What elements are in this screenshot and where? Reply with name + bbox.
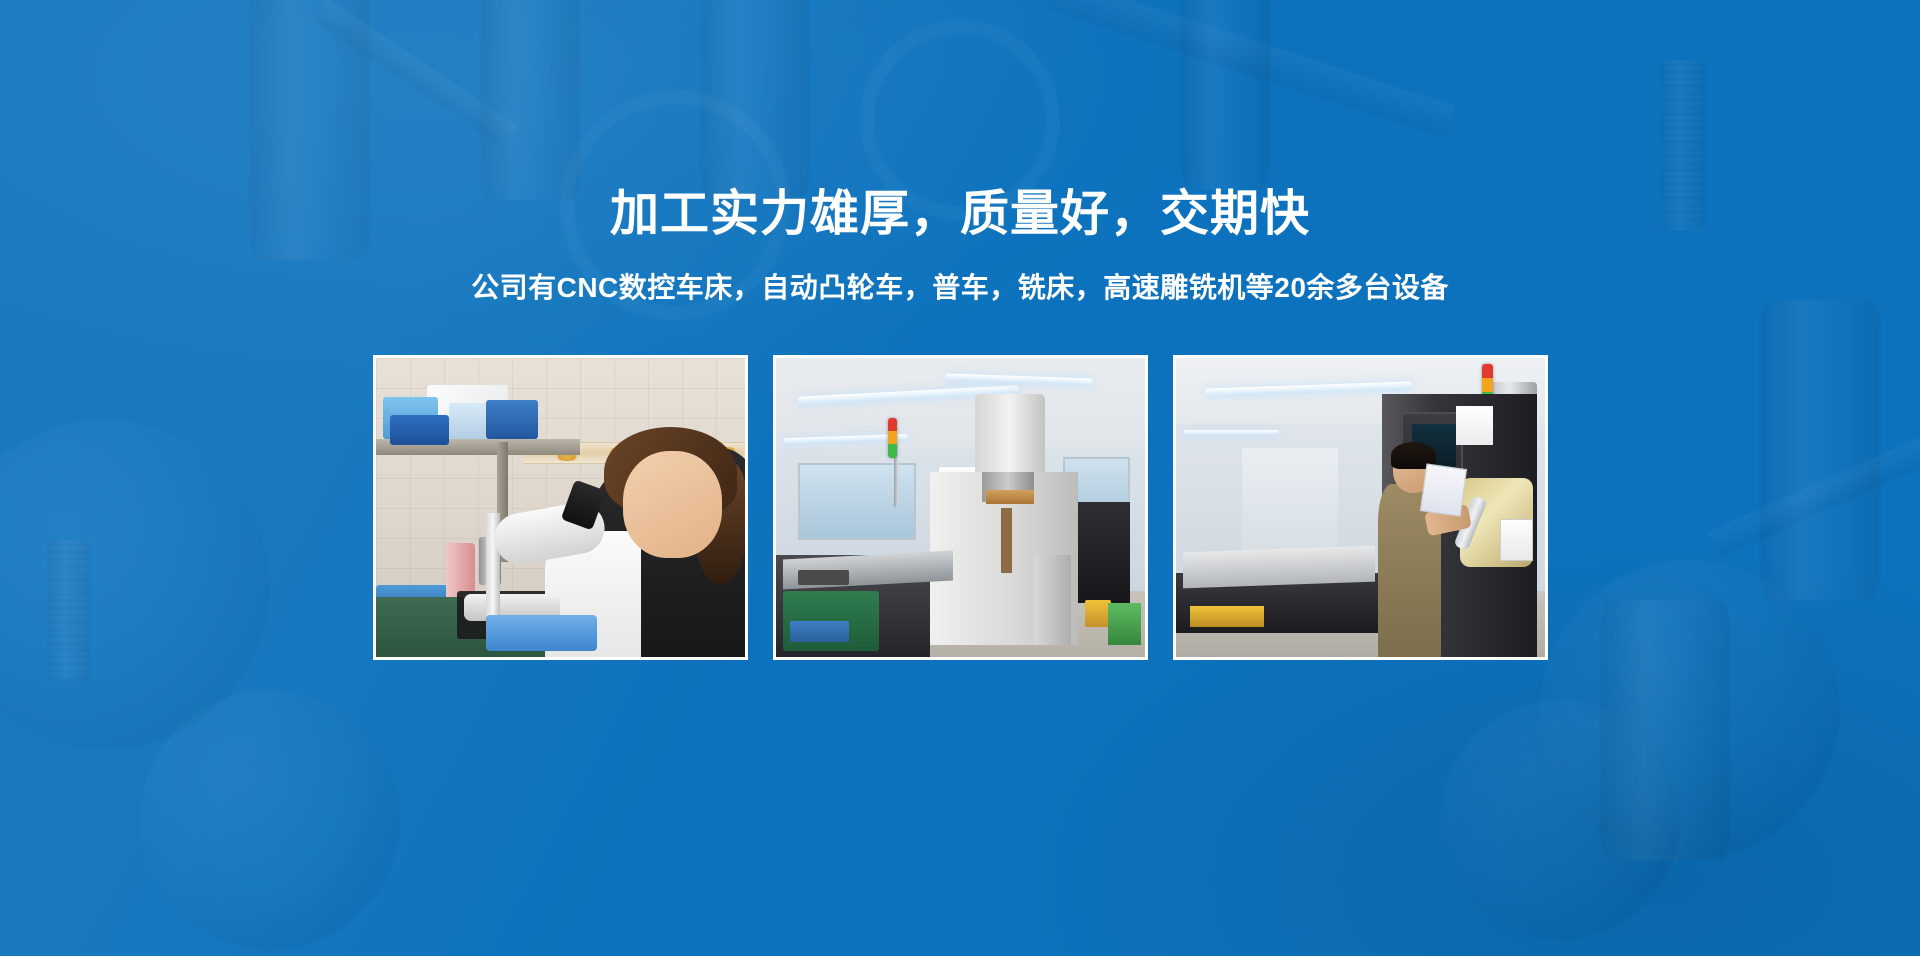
promo-banner: 加工实力雄厚，质量好，交期快 公司有CNC数控车床，自动凸轮车，普车，铣床，高速… <box>0 0 1920 956</box>
photo-gallery <box>0 355 1920 660</box>
watermark-disc-4 <box>140 690 400 950</box>
photo-quality-inspection-microscope <box>373 355 748 660</box>
watermark-disc-3 <box>1440 700 1680 940</box>
signal-tower-light <box>888 418 897 458</box>
banner-headline: 加工实力雄厚，质量好，交期快 <box>0 186 1920 244</box>
photo-operator-at-cnc-lathe <box>1173 355 1548 660</box>
photo-cnc-machine-workshop <box>773 355 1148 660</box>
banner-subheadline: 公司有CNC数控车床，自动凸轮车，普车，铣床，高速雕铣机等20余多台设备 <box>0 270 1920 306</box>
banner-text-block: 加工实力雄厚，质量好，交期快 公司有CNC数控车床，自动凸轮车，普车，铣床，高速… <box>0 186 1920 306</box>
watermark-cylinder-4 <box>1180 0 1270 190</box>
watermark-cylinder-3 <box>700 0 810 200</box>
